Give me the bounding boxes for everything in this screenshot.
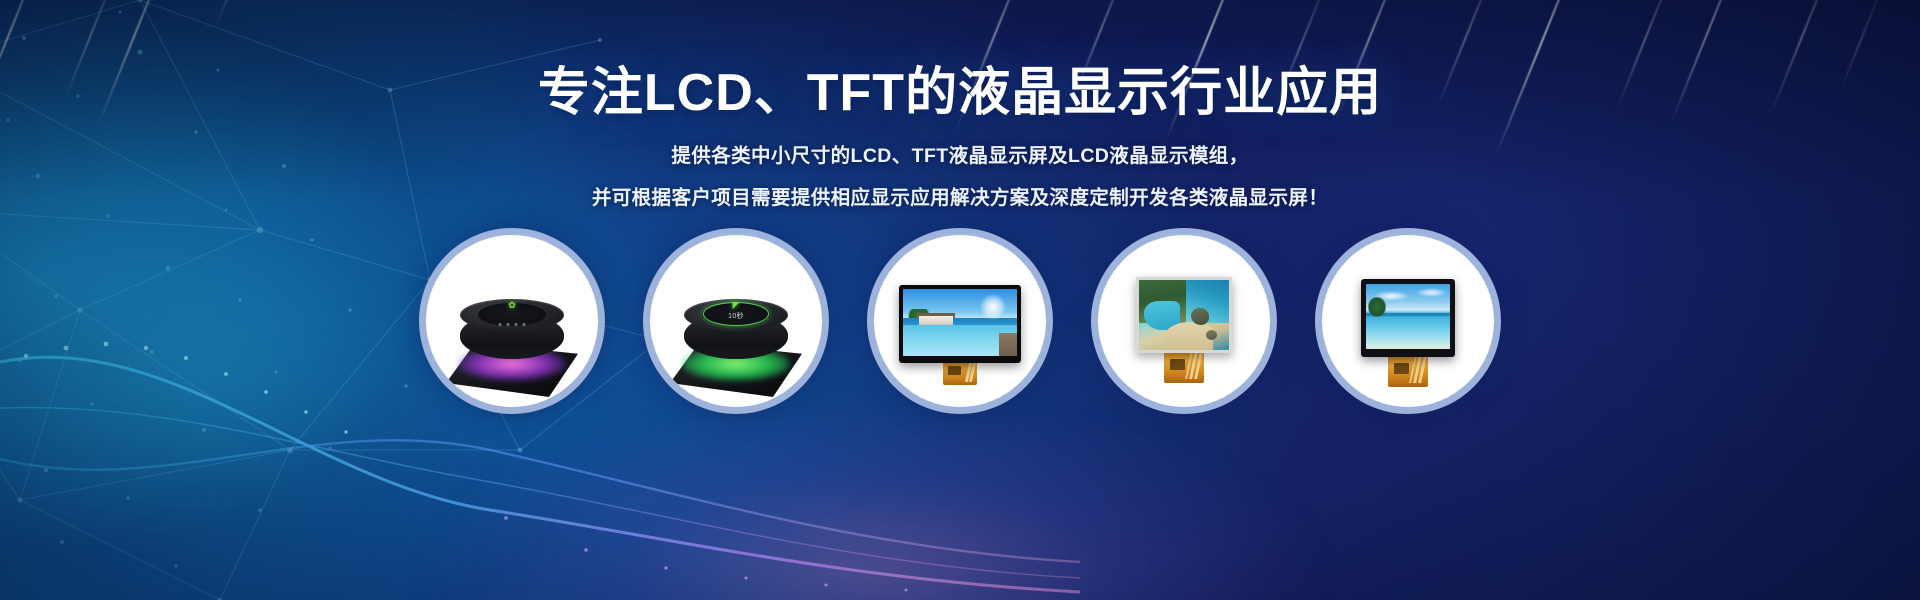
tft-panel-bezel xyxy=(1361,279,1455,357)
product-image-lcd-panel-widescreen xyxy=(874,235,1046,407)
tft-screen-image xyxy=(1366,284,1450,349)
tft-screen-image xyxy=(1139,280,1229,350)
speaker-indicator-dots xyxy=(499,323,526,326)
fpc-chip xyxy=(1170,359,1185,371)
lcd-screen-image xyxy=(903,289,1017,356)
scene-boulder xyxy=(1206,330,1218,341)
product-circle-smart-speaker-purple[interactable]: ✿ xyxy=(419,228,605,414)
product-image-smart-speaker-green: ◤ 10秒 xyxy=(650,235,822,407)
scene-tree xyxy=(1368,297,1386,317)
scene-boulder xyxy=(1191,308,1209,325)
lcd-panel-bezel xyxy=(899,285,1021,363)
banner-subtitle-line-2: 并可根据客户项目需要提供相应显示应用解决方案及深度定制开发各类液晶显示屏！ xyxy=(0,189,1920,209)
product-image-tft-panel-coastal xyxy=(1098,235,1270,407)
product-circle-lcd-panel-widescreen[interactable] xyxy=(867,228,1053,414)
fpc-cable xyxy=(1388,353,1428,387)
fpc-chip xyxy=(948,366,961,375)
scene-sun xyxy=(980,294,1006,320)
arrow-icon: ◤ xyxy=(733,301,740,310)
banner-subtitle-line-1: 提供各类中小尺寸的LCD、TFT液晶显示屏及LCD液晶显示模组， xyxy=(0,147,1920,167)
scene-surf xyxy=(1366,317,1450,350)
flower-icon: ✿ xyxy=(508,301,516,310)
product-showcase-list: ✿ ◤ 10秒 xyxy=(0,228,1920,428)
fpc-chip xyxy=(1394,363,1409,375)
page-title: 专注LCD、TFT的液晶显示行业应用 xyxy=(0,64,1920,122)
banner-text-block: 专注LCD、TFT的液晶显示行业应用 提供各类中小尺寸的LCD、TFT液晶显示屏… xyxy=(0,64,1920,208)
scene-cloud xyxy=(1416,288,1446,297)
product-circle-smart-speaker-green[interactable]: ◤ 10秒 xyxy=(643,228,829,414)
tft-panel-bezel xyxy=(1136,277,1232,353)
product-circle-tft-panel-coastal[interactable] xyxy=(1091,228,1277,414)
scene-deck xyxy=(999,333,1017,356)
speaker-display-text: 10秒 xyxy=(728,311,744,321)
product-circle-tft-panel-beach[interactable] xyxy=(1315,228,1501,414)
fpc-cable xyxy=(1164,349,1204,383)
hero-banner: 专注LCD、TFT的液晶显示行业应用 提供各类中小尺寸的LCD、TFT液晶显示屏… xyxy=(0,0,1920,600)
product-image-smart-speaker-purple: ✿ xyxy=(426,235,598,407)
product-image-tft-panel-beach xyxy=(1322,235,1494,407)
